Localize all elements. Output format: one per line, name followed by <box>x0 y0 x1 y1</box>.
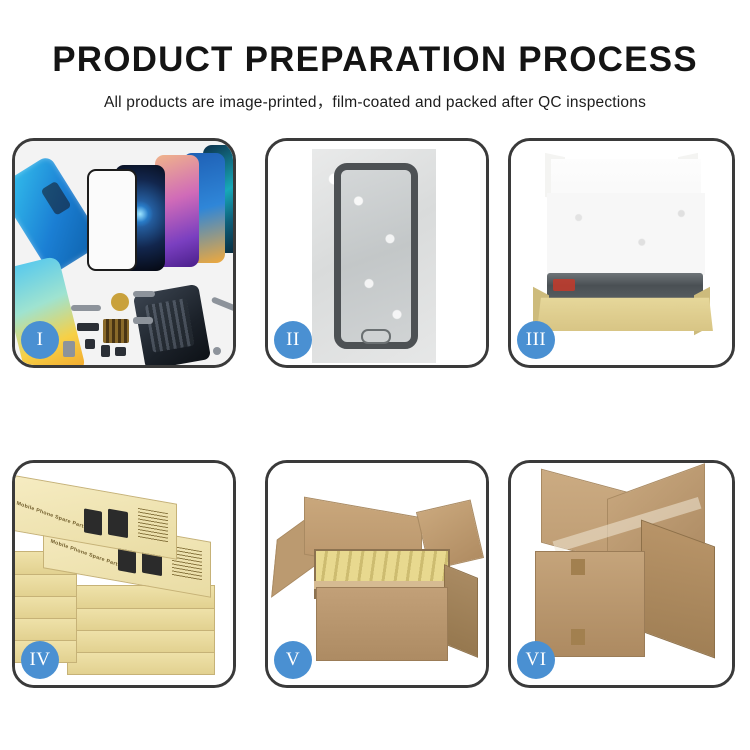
carton-handle-notch-top <box>571 559 585 575</box>
bubble-texture-overlay <box>341 170 411 342</box>
stacked-box-l3 <box>15 595 77 619</box>
stacked-box-l4 <box>15 617 77 641</box>
phone-white-frame <box>87 169 137 271</box>
box-label-top: Mobile Phone Spare Parts <box>16 500 87 530</box>
step-5-image: V <box>268 463 486 685</box>
process-step-1: I <box>12 138 236 368</box>
part-chip-b <box>101 345 110 357</box>
stacked-box-f5 <box>67 651 215 675</box>
step-6-image: VI <box>511 463 732 685</box>
inner-box-front <box>537 298 713 331</box>
page-subtitle: All products are image-printed，film-coat… <box>0 90 750 112</box>
step-3-image: III <box>511 141 732 365</box>
carton-right-face <box>444 564 478 658</box>
step-2-image: II <box>268 141 486 365</box>
wrapped-screen <box>334 163 418 349</box>
part-connector-grid <box>103 319 129 343</box>
stacked-box-l2 <box>15 573 77 597</box>
part-flex-cable <box>71 305 101 311</box>
box-lid-phone-img-b <box>108 509 128 539</box>
carton-front-face <box>316 587 448 661</box>
step-4-image: Mobile Phone Spare Parts Mobile Phone Sp… <box>15 463 233 685</box>
step-badge-5: V <box>274 641 312 679</box>
foam-insert <box>547 193 705 275</box>
process-step-grid: I II III <box>0 138 750 698</box>
part-button-flex <box>133 291 155 297</box>
step-badge-4: IV <box>21 641 59 679</box>
part-tool-tweezers <box>211 296 233 311</box>
step-badge-1: I <box>21 321 59 359</box>
part-antenna-strip <box>133 317 153 324</box>
step-badge-3: III <box>517 321 555 359</box>
process-step-3: III <box>508 138 735 368</box>
part-sim-tray <box>63 341 75 357</box>
box-lid-phone-img-a <box>84 508 102 535</box>
stacked-box-f3 <box>67 607 215 631</box>
product-preparation-infographic: PRODUCT PREPARATION PROCESS All products… <box>0 0 750 750</box>
step-badge-6: VI <box>517 641 555 679</box>
process-step-5: V <box>265 460 489 688</box>
stacked-box-f4 <box>67 629 215 653</box>
step-1-image: I <box>15 141 233 365</box>
part-chip-c <box>115 347 126 356</box>
part-screw <box>213 347 221 355</box>
process-step-2: II <box>265 138 489 368</box>
process-step-4: Mobile Phone Spare Parts Mobile Phone Sp… <box>12 460 236 688</box>
part-small-module <box>77 323 99 331</box>
header: PRODUCT PREPARATION PROCESS All products… <box>0 0 750 112</box>
part-chip-a <box>85 339 95 349</box>
box-lid-spec-lines-a <box>138 508 168 543</box>
page-title: PRODUCT PREPARATION PROCESS <box>0 42 750 77</box>
part-gold-disc <box>111 293 129 311</box>
process-step-6: VI <box>508 460 735 688</box>
carton-handle-notch-bottom <box>571 629 585 645</box>
sealed-carton-front-face <box>535 551 645 657</box>
step-badge-2: II <box>274 321 312 359</box>
